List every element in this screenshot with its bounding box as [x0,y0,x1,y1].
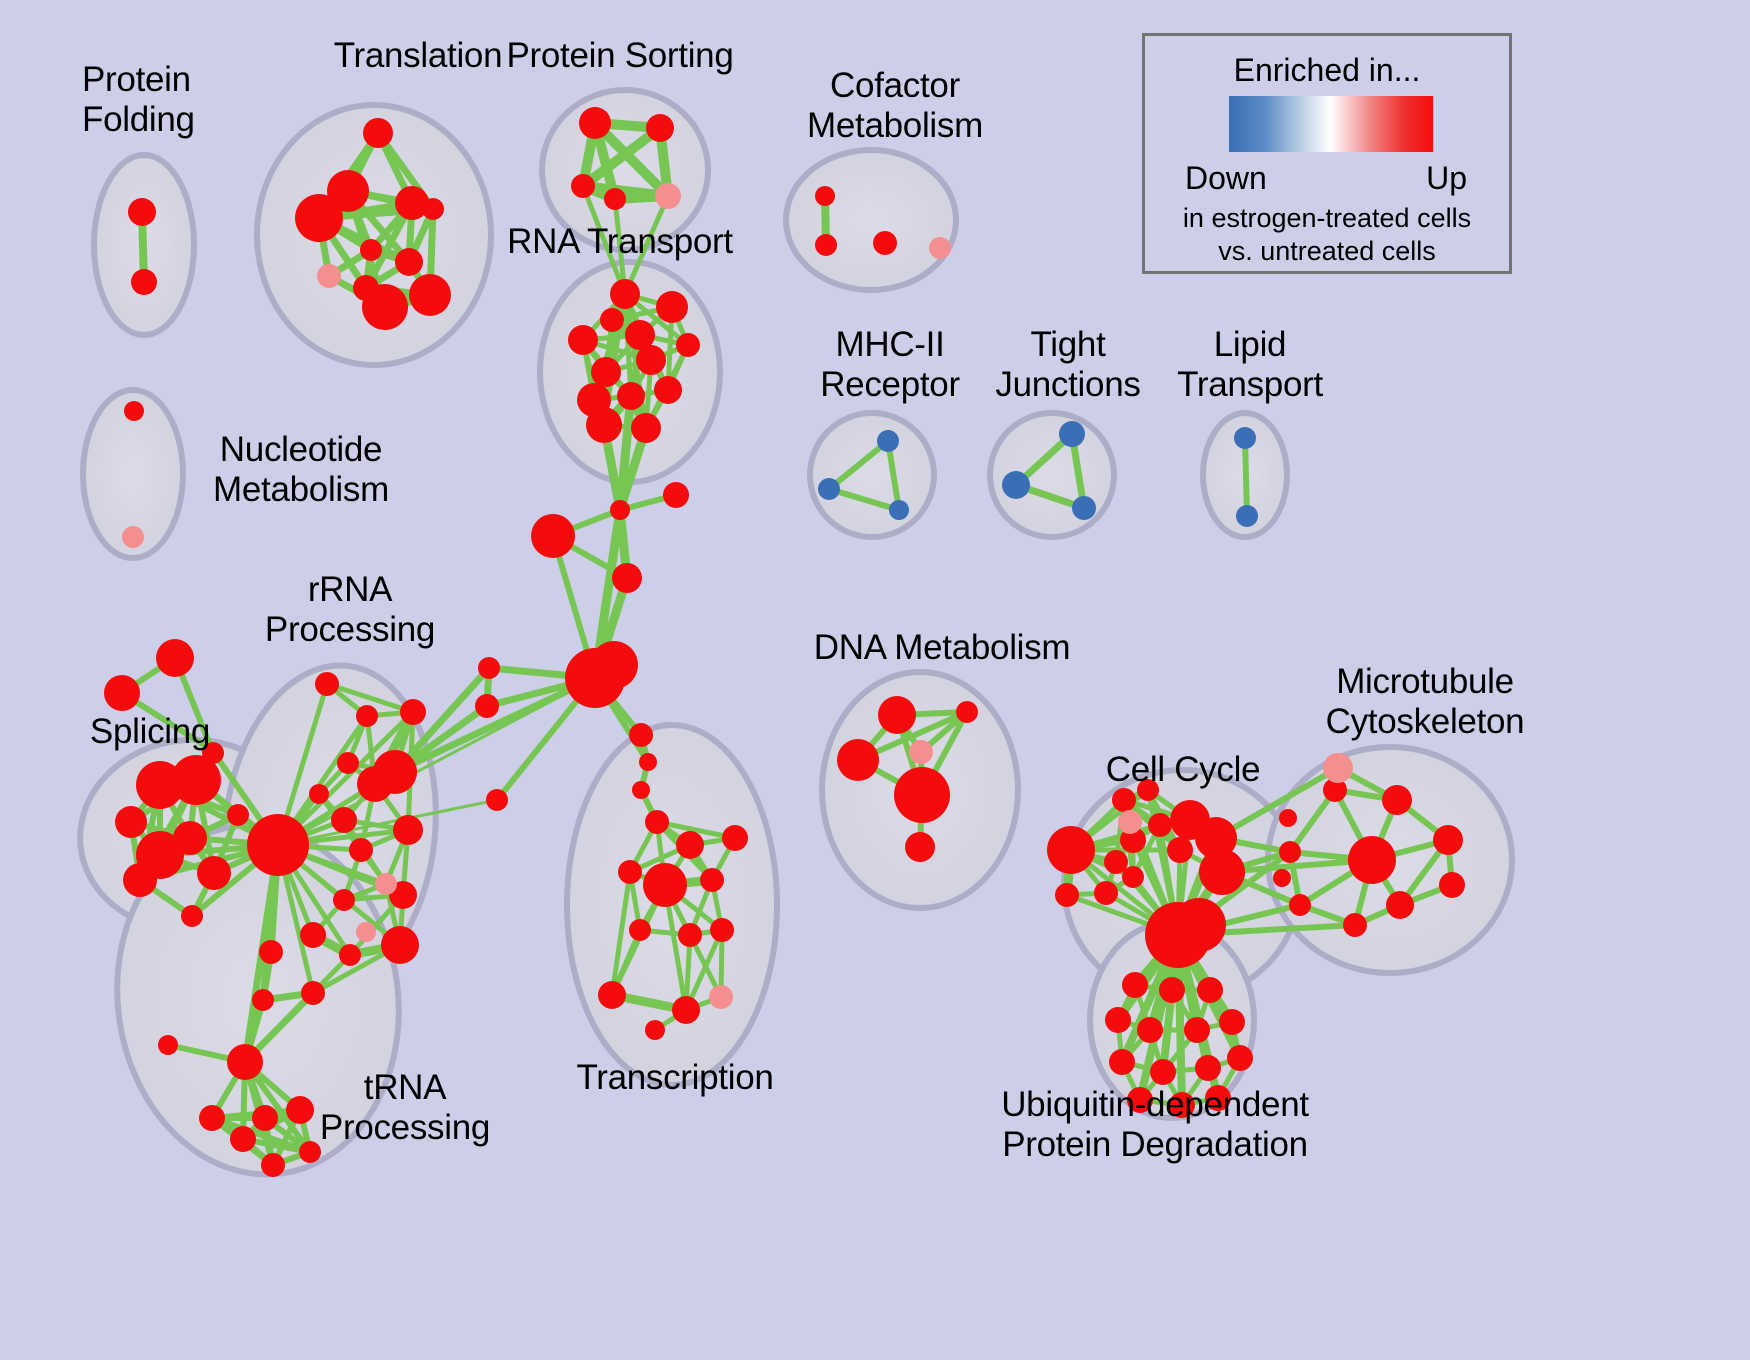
node [373,750,417,794]
node [128,198,156,226]
node [1047,826,1095,874]
node [929,237,951,259]
node [1094,881,1118,905]
node [815,234,837,256]
node [1386,891,1414,919]
legend-title: Enriched in... [1145,52,1509,89]
cluster-label-dna-metabolism: DNA Metabolism [812,628,1072,668]
node [181,905,203,927]
hull-mhc2 [810,413,934,537]
node [1109,1049,1135,1075]
node [643,863,687,907]
node [877,430,899,452]
node [381,926,419,964]
node [227,1044,263,1080]
node [259,940,283,964]
node [131,269,157,295]
node [1439,872,1465,898]
cluster-label-cofactor-metabolism: CofactorMetabolism [795,66,995,146]
node [301,981,325,1005]
node [1199,849,1245,895]
node [631,413,661,443]
node [905,832,935,862]
node [478,657,500,679]
legend-color-gradient [1229,96,1433,152]
hull-cofactor [786,150,956,290]
node [878,696,916,734]
node [375,873,397,895]
cluster-label-trna-processing: tRNAProcessing [300,1068,510,1148]
node [1279,809,1297,827]
node [1343,913,1367,937]
node [591,357,621,387]
cluster-label-rna-transport: RNA Transport [505,222,735,262]
node [395,248,423,276]
node [1195,1055,1221,1081]
node [568,325,598,355]
node [333,889,355,911]
node [1279,841,1301,863]
node [1105,1007,1131,1033]
node [1197,977,1223,1003]
node [261,1153,285,1177]
legend-high-label: Up [1426,160,1467,197]
node [873,231,897,255]
node [1072,496,1096,520]
node [818,478,840,500]
node [300,922,326,948]
cluster-label-rrna-processing: rRNAProcessing [250,570,450,650]
node [639,753,657,771]
node [1122,972,1148,998]
node [663,482,689,508]
node [837,739,879,781]
node [360,239,382,261]
node [610,500,630,520]
node [709,985,733,1009]
node [645,1020,665,1040]
node [1273,869,1291,887]
node [632,781,650,799]
node [579,107,611,139]
cluster-label-cell-cycle: Cell Cycle [1088,750,1278,790]
node [363,118,393,148]
node [124,401,144,421]
node [1184,1017,1210,1043]
node [590,641,638,689]
legend-low-label: Down [1185,160,1267,197]
cluster-label-microtubule-cytoskeleton: MicrotubuleCytoskeleton [1300,662,1550,742]
node [309,784,329,804]
node [349,838,373,862]
node [700,868,724,892]
node [1150,1059,1176,1085]
legend-panel: Enriched in... Down Up in estrogen-treat… [1142,33,1512,274]
node [571,174,595,198]
network-figure: ProteinFoldingTranslationProtein Sorting… [0,0,1750,1360]
node [339,944,361,966]
node [199,1105,225,1131]
node [1433,825,1463,855]
node [646,114,674,142]
cluster-label-transcription: Transcription [565,1058,785,1098]
node [1118,810,1142,834]
cluster-label-splicing: Splicing [60,712,240,752]
node [1112,788,1136,812]
node [618,860,642,884]
node [1159,977,1185,1003]
node [1227,1045,1253,1071]
node [409,274,451,316]
cluster-label-protein-folding: ProteinFolding [82,60,282,140]
node [1055,883,1079,907]
node [604,188,626,210]
node [158,1035,178,1055]
node [889,500,909,520]
node [1137,1017,1163,1043]
node [612,563,642,593]
node [909,740,933,764]
node [1236,505,1258,527]
node [617,382,645,410]
node [815,186,835,206]
node [722,825,748,851]
node [1234,427,1256,449]
node [393,815,423,845]
node [252,989,274,1011]
node [645,810,669,834]
node [1167,837,1193,863]
node [610,279,640,309]
node [894,767,950,823]
node [122,526,144,548]
node [197,856,231,890]
cluster-label-mhc-ii-receptor: MHC-IIReceptor [800,325,980,405]
legend-subtitle: in estrogen-treated cellsvs. untreated c… [1145,202,1509,268]
node [678,923,702,947]
node [337,752,359,774]
node [1122,866,1144,888]
node [629,919,651,941]
node [676,831,704,859]
node [315,672,339,696]
node [1219,1009,1245,1035]
node [1059,421,1085,447]
node [486,789,508,811]
cluster-label-ubiquitin-degradation: Ubiquitin-dependentProtein Degradation [985,1085,1325,1165]
node [531,514,575,558]
node [1172,898,1226,952]
node [230,1126,256,1152]
node [586,407,622,443]
node [1148,813,1172,837]
node [227,804,249,826]
node [1323,753,1353,783]
node [252,1105,278,1131]
node [475,694,499,718]
node [656,291,688,323]
cluster-label-lipid-transport: LipidTransport [1160,325,1340,405]
node [655,183,681,209]
cluster-label-tight-junctions: TightJunctions [978,325,1158,405]
node [171,755,221,805]
node [654,376,682,404]
node [956,701,978,723]
node [115,806,147,838]
cluster-label-nucleotide-metabolism: NucleotideMetabolism [196,430,406,510]
node [1382,785,1412,815]
node [1348,836,1396,884]
node [362,284,408,330]
node [1002,471,1030,499]
node [598,981,626,1009]
node [710,918,734,942]
node [600,308,624,332]
node [331,807,357,833]
node [356,922,376,942]
node [629,723,653,747]
node [247,814,309,876]
node [636,345,666,375]
node [356,705,378,727]
node [676,333,700,357]
node [104,675,140,711]
node [422,198,444,220]
cluster-label-protein-sorting: Protein Sorting [505,36,735,76]
node [1289,894,1311,916]
node [400,699,426,725]
node [156,639,194,677]
node [317,264,341,288]
node [672,996,700,1024]
node [123,863,157,897]
node [295,194,343,242]
